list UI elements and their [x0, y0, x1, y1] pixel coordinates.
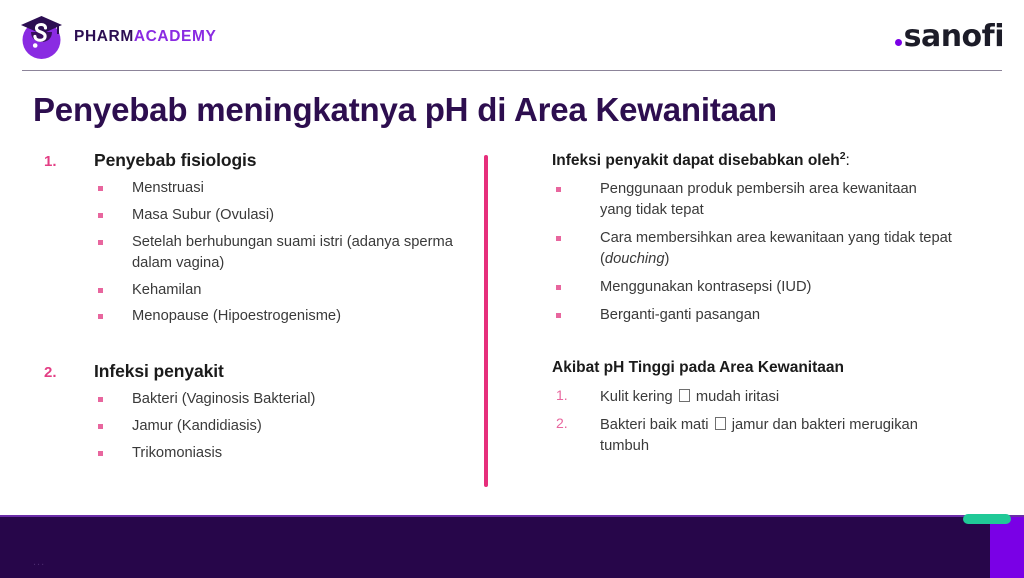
list-item-text: Berganti-ganti pasangan [600, 307, 760, 323]
slide-footer: ... [0, 515, 1024, 578]
list-item: 2. Bakteri baik mati jamur dan bakteri m… [552, 415, 952, 457]
square-bullet-icon [44, 186, 136, 191]
list-item: Setelah berhubungan suami istri (adanya … [44, 232, 464, 274]
list-item: Trikomoniasis [44, 443, 464, 464]
right-column: Infeksi penyakit dapat disebabkan oleh2:… [552, 150, 952, 464]
square-bullet-icon [552, 236, 600, 241]
header-divider-rule [22, 70, 1002, 71]
list-item-emphasis: douching [605, 251, 665, 267]
square-bullet-icon [44, 213, 136, 218]
sanofi-logo: sanofi [895, 22, 1004, 52]
square-bullet-icon [44, 314, 136, 319]
list-item-text-tail: mudah iritasi [692, 389, 779, 405]
list-item-text-tail: ) [665, 251, 670, 267]
sanofi-dot-icon [895, 39, 902, 46]
list-item: Menopause (Hipoestrogenisme) [44, 306, 464, 327]
missing-glyph-box-icon [679, 389, 690, 402]
list-item: Penggunaan produk pembersih area kewanit… [552, 179, 952, 221]
page-title: Penyebab meningkatnya pH di Area Kewanit… [33, 91, 777, 129]
list-item-label: Jamur (Kandidiasis) [132, 416, 464, 437]
brand-wordmark-part2: ACADEMY [134, 28, 217, 45]
right-block2: Akibat pH Tinggi pada Area Kewanitaan 1.… [552, 359, 952, 457]
numbered-section: 1. Penyebab fisiologis Menstruasi Masa S… [44, 150, 464, 327]
list-item: Kehamilan [44, 280, 464, 301]
slide: PHARMACADEMY sanofi Penyebab meningkatny… [0, 0, 1024, 576]
list-item: Masa Subur (Ovulasi) [44, 205, 464, 226]
list-item: Menggunakan kontrasepsi (IUD) [552, 277, 952, 298]
list-item-text: Penggunaan produk pembersih area kewanit… [600, 181, 917, 218]
list-item-label: Setelah berhubungan suami istri (adanya … [132, 232, 464, 274]
list-item-label: Kulit kering mudah iritasi [600, 387, 952, 408]
square-bullet-icon [44, 288, 136, 293]
square-bullet-icon [552, 313, 600, 318]
list-item: Menstruasi [44, 178, 464, 199]
pharmacademy-logo: PHARMACADEMY [18, 12, 216, 62]
list-item-label: Menopause (Hipoestrogenisme) [132, 306, 464, 327]
footer-violet-accent [990, 517, 1024, 578]
list-item-text: Kulit kering [600, 389, 677, 405]
brand-wordmark: PHARMACADEMY [74, 29, 216, 45]
brand-wordmark-part1: PHARM [74, 28, 134, 45]
list-item-text: Menggunakan kontrasepsi (IUD) [600, 279, 811, 295]
numbered-section: 2. Infeksi penyakit Bakteri (Vaginosis B… [44, 361, 464, 464]
list-item-label: Cara membersihkan area kewanitaan yang t… [600, 228, 952, 270]
missing-glyph-box-icon [715, 417, 726, 430]
section-number: 2. [44, 364, 94, 381]
list-item-label: Menggunakan kontrasepsi (IUD) [600, 277, 952, 298]
list-item-text: Bakteri baik mati [600, 417, 713, 433]
heading-colon: : [846, 152, 850, 169]
list-item-label: Penggunaan produk pembersih area kewanit… [600, 179, 952, 221]
list-item-label: Kehamilan [132, 280, 464, 301]
list-item-label: Menstruasi [132, 178, 464, 199]
list-item: Jamur (Kandidiasis) [44, 416, 464, 437]
sanofi-wordmark: sanofi [904, 19, 1004, 54]
right-block1-heading: Infeksi penyakit dapat disebabkan oleh2: [552, 150, 952, 170]
square-bullet-icon [44, 424, 136, 429]
graduation-cap-logo-icon [18, 12, 65, 62]
list-item: 1. Kulit kering mudah iritasi [552, 387, 952, 408]
list-item: Berganti-ganti pasangan [552, 305, 952, 326]
section-item-list: Bakteri (Vaginosis Bakterial) Jamur (Kan… [44, 389, 464, 464]
right-block1-heading-text: Infeksi penyakit dapat disebabkan oleh [552, 152, 840, 169]
section-heading-row: 1. Penyebab fisiologis [44, 150, 464, 171]
square-bullet-icon [552, 187, 600, 192]
section-title: Infeksi penyakit [94, 361, 224, 382]
footer-dots: ... [33, 557, 45, 568]
square-bullet-icon [44, 451, 136, 456]
square-bullet-icon [552, 285, 600, 290]
list-item-number: 1. [552, 387, 600, 403]
list-item-label: Berganti-ganti pasangan [600, 305, 952, 326]
section-item-list: Menstruasi Masa Subur (Ovulasi) Setelah … [44, 178, 464, 327]
footer-green-accent [963, 514, 1011, 524]
section-number: 1. [44, 153, 94, 170]
section-title: Penyebab fisiologis [94, 150, 256, 171]
slide-header: PHARMACADEMY sanofi [0, 0, 1024, 71]
list-item-number: 2. [552, 415, 600, 431]
list-item: Cara membersihkan area kewanitaan yang t… [552, 228, 952, 270]
list-item-label: Bakteri (Vaginosis Bakterial) [132, 389, 464, 410]
left-column: 1. Penyebab fisiologis Menstruasi Masa S… [44, 150, 464, 486]
right-block2-heading: Akibat pH Tinggi pada Area Kewanitaan [552, 359, 952, 377]
square-bullet-icon [44, 240, 136, 245]
section-heading-row: 2. Infeksi penyakit [44, 361, 464, 382]
list-item-label: Masa Subur (Ovulasi) [132, 205, 464, 226]
list-item-label: Trikomoniasis [132, 443, 464, 464]
list-item: Bakteri (Vaginosis Bakterial) [44, 389, 464, 410]
column-divider [484, 155, 488, 487]
square-bullet-icon [44, 397, 136, 402]
list-item-label: Bakteri baik mati jamur dan bakteri meru… [600, 415, 952, 457]
